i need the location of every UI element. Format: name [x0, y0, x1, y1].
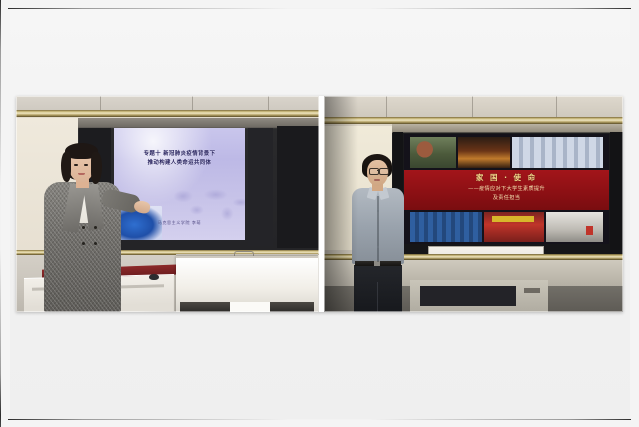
slide-photo-medical-staff-ppe	[512, 137, 603, 168]
left-photo: 专题十 新冠肺炎疫情背景下 推动构建人类命运共同体 马克思主义学院 李萌	[16, 96, 319, 312]
frame-right-border	[0, 415, 1, 427]
mouse	[149, 274, 159, 280]
slide-photo-students-uniform	[410, 212, 482, 242]
slide-photo-red-cross-marker	[586, 226, 593, 235]
ceiling-panel	[16, 96, 319, 110]
slide-photo-hospital-entrance	[546, 212, 603, 242]
photo-left-shadow	[324, 96, 358, 312]
papers	[230, 302, 270, 312]
ceiling-seam	[268, 96, 269, 110]
presenter-leg-seam	[377, 282, 378, 312]
blackboard-panel-right	[610, 132, 623, 250]
slide-title-line-1: 专题十 新冠肺炎疫情背景下	[114, 150, 245, 159]
blackboard-panel-right	[277, 126, 319, 248]
frame-bottom-border	[8, 419, 631, 420]
ceiling-seam	[556, 96, 557, 117]
slide-byline: 马克思主义学院 李萌	[114, 220, 245, 226]
slide-subtitle-line-1: ——疫情应对下大学生素质提升	[404, 185, 609, 194]
console-label	[524, 288, 540, 293]
glasses-bridge	[377, 170, 379, 171]
slide-photo-night-city-lights	[458, 137, 510, 168]
ceiling-rail	[16, 110, 319, 117]
jacket-button	[94, 242, 97, 245]
screenshot-root: 专题十 新冠肺炎疫情背景下 推动构建人类命运共同体 马克思主义学院 李萌	[0, 0, 639, 427]
slide-photo-outdoor-volunteers	[410, 137, 456, 168]
slide-title: 家 国 · 使 命	[404, 172, 609, 183]
lecturer-eye-right	[84, 164, 88, 166]
jacket-button	[94, 226, 97, 229]
presentation-slide-right: 家 国 · 使 命 ——疫情应对下大学生素质提升 及责任担当	[404, 134, 609, 244]
frame-top-border	[8, 8, 631, 9]
console-monitor	[420, 286, 516, 306]
ceiling-seam	[386, 96, 387, 117]
slide-subtitle: ——疫情应对下大学生素质提升 及责任担当	[404, 185, 609, 202]
ceiling-seam	[472, 96, 473, 117]
frame-left-border	[0, 0, 1, 415]
ceiling-seam	[192, 96, 193, 110]
ceiling-rail	[324, 117, 623, 124]
lecturer-hair-side-left	[61, 152, 71, 182]
blackboard-panel-mid	[248, 128, 273, 246]
lecturer-eye-left	[74, 164, 78, 166]
presenter-mouth	[374, 179, 380, 181]
ceiling-panel	[324, 96, 623, 117]
presentation-slide-left: 专题十 新冠肺炎疫情背景下 推动构建人类命运共同体 马克思主义学院 李萌	[114, 128, 245, 240]
slide-subtitle-line-2: 及责任担当	[404, 194, 609, 203]
slide-photo-truck-banner	[492, 216, 534, 222]
right-photo: 家 国 · 使 命 ——疫情应对下大学生素质提升 及责任担当	[324, 96, 623, 312]
photo-montage: 专题十 新冠肺炎疫情背景下 推动构建人类命运共同体 马克思主义学院 李萌	[16, 96, 623, 312]
slide-title-line-2: 推动构建人类命运共同体	[114, 159, 245, 168]
glasses-icon	[379, 168, 389, 175]
ceiling-seam	[100, 96, 101, 110]
slide-title: 专题十 新冠肺炎疫情背景下 推动构建人类命运共同体	[114, 150, 245, 168]
